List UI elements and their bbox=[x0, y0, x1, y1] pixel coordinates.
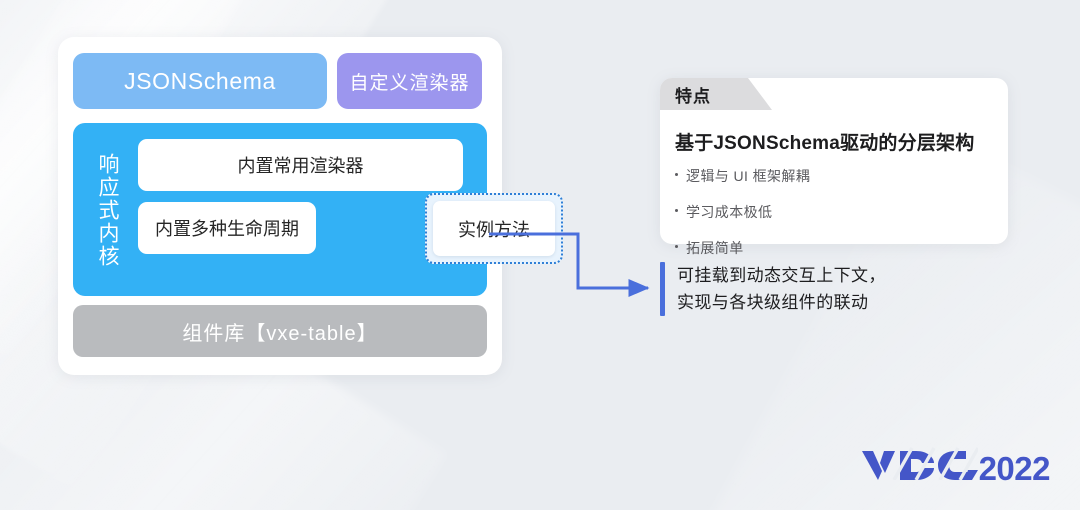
pill-jsonschema[interactable]: JSONSchema bbox=[73, 53, 327, 109]
vdc-wordmark-icon bbox=[860, 446, 978, 480]
component-library-bar[interactable]: 组件库【vxe-table】 bbox=[73, 305, 487, 357]
vdc-year-label: 2022 bbox=[979, 450, 1050, 488]
box-builtin-renderers[interactable]: 内置常用渲染器 bbox=[138, 139, 463, 191]
callout-accent-bar bbox=[660, 262, 665, 316]
reactive-core-label: 响应式内核 bbox=[91, 139, 123, 281]
feature-panel: 特点 基于JSONSchema驱动的分层架构 逻辑与 UI 框架解耦 学习成本极… bbox=[660, 78, 1008, 244]
reactive-core-block: 响应式内核 内置常用渲染器 内置多种生命周期 实例方法 bbox=[73, 123, 487, 296]
list-item: 拓展简单 bbox=[675, 238, 810, 258]
pill-custom-renderer[interactable]: 自定义渲染器 bbox=[337, 53, 482, 109]
vdc-logo: 2022 bbox=[860, 446, 1050, 488]
connector-arrow bbox=[480, 215, 670, 310]
callout-note: 可挂载到动态交互上下文， 实现与各块级组件的联动 bbox=[660, 262, 886, 316]
connector-polyline bbox=[489, 234, 648, 288]
list-item: 学习成本极低 bbox=[675, 202, 810, 222]
callout-text: 可挂载到动态交互上下文， 实现与各块级组件的联动 bbox=[677, 262, 886, 316]
header-pill-row: JSONSchema 自定义渲染器 bbox=[73, 53, 482, 109]
feature-panel-tab-label: 特点 bbox=[675, 82, 711, 107]
feature-bullet-list: 逻辑与 UI 框架解耦 学习成本极低 拓展简单 bbox=[675, 166, 810, 274]
feature-panel-tab: 特点 bbox=[660, 78, 772, 110]
slide-canvas: JSONSchema 自定义渲染器 响应式内核 内置常用渲染器 内置多种生命周期… bbox=[0, 0, 1080, 510]
feature-panel-heading: 基于JSONSchema驱动的分层架构 bbox=[675, 128, 974, 155]
architecture-card: JSONSchema 自定义渲染器 响应式内核 内置常用渲染器 内置多种生命周期… bbox=[58, 37, 502, 375]
box-builtin-lifecycles[interactable]: 内置多种生命周期 bbox=[138, 202, 316, 254]
list-item: 逻辑与 UI 框架解耦 bbox=[675, 166, 810, 186]
